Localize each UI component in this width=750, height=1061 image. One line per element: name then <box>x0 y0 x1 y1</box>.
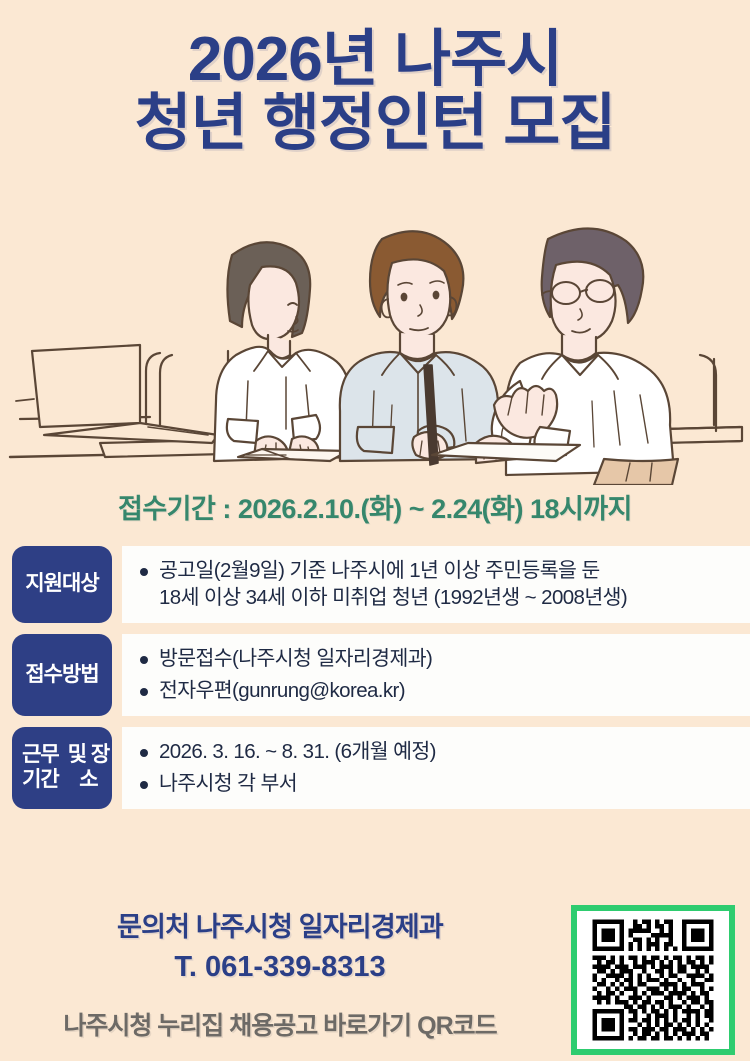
info-label-line-2: 및 장소 <box>67 743 110 792</box>
bullet-dot-icon <box>140 781 148 789</box>
info-panel-application-method: 방문접수(나주시청 일자리경제과) 전자우편(gunrung@korea.kr) <box>122 634 750 716</box>
qr-code[interactable] <box>571 905 735 1055</box>
info-panel-work-period-location: 2026. 3. 16. ~ 8. 31. (6개월 예정) 나주시청 각 부서 <box>122 727 750 809</box>
bullet-text: 공고일(2월9일) 기준 나주시에 1년 이상 주민등록을 둔 18세 이상 3… <box>159 557 736 612</box>
title-line-2: 청년 행정인턴 모집 <box>0 92 750 156</box>
info-row-application-method: 접수방법 방문접수(나주시청 일자리경제과) 전자우편(gunrung@kore… <box>12 634 750 716</box>
info-row-eligibility: 지원대상 공고일(2월9일) 기준 나주시에 1년 이상 주민등록을 둔 18세… <box>12 546 750 623</box>
bullet-item: 방문접수(나주시청 일자리경제과) <box>140 645 736 672</box>
info-label-eligibility: 지원대상 <box>12 546 112 623</box>
bullet-item: 나주시청 각 부서 <box>140 770 736 797</box>
info-panel-eligibility: 공고일(2월9일) 기준 나주시에 1년 이상 주민등록을 둔 18세 이상 3… <box>122 546 750 623</box>
contact-telephone: T. 061-339-8313 <box>20 951 540 984</box>
bullet-dot-icon <box>140 749 148 757</box>
meeting-illustration <box>0 205 750 485</box>
bullet-text: 방문접수(나주시청 일자리경제과) <box>159 645 736 672</box>
bullet-dot-icon <box>140 688 148 696</box>
qr-caption: 나주시청 누리집 채용공고 바로가기 QR코드 <box>20 1006 540 1042</box>
info-label-line-1: 근무기간 <box>14 743 67 792</box>
bullet-line-1: 공고일(2월9일) 기준 나주시에 1년 이상 주민등록을 둔 <box>159 557 736 584</box>
bullet-text: 나주시청 각 부서 <box>159 770 736 797</box>
info-label-application-method: 접수방법 <box>12 634 112 716</box>
qr-code-image <box>581 915 725 1045</box>
title-line-1: 2026년 나주시 <box>0 28 750 92</box>
bullet-item: 공고일(2월9일) 기준 나주시에 1년 이상 주민등록을 둔 18세 이상 3… <box>140 557 736 612</box>
contact-block: 문의처 나주시청 일자리경제과 T. 061-339-8313 <box>20 905 540 984</box>
bullet-dot-icon <box>140 568 148 576</box>
info-row-work-period-location: 근무기간 및 장소 2026. 3. 16. ~ 8. 31. (6개월 예정)… <box>12 727 750 809</box>
contact-organization: 문의처 나주시청 일자리경제과 <box>20 905 540 944</box>
bullet-dot-icon <box>140 656 148 664</box>
info-label-work-period-location: 근무기간 및 장소 <box>12 727 112 809</box>
bullet-item: 2026. 3. 16. ~ 8. 31. (6개월 예정) <box>140 738 736 765</box>
reception-period-line: 접수기간 : 2026.2.10.(화) ~ 2.24(화) 18시까지 <box>0 487 750 526</box>
bullet-text: 2026. 3. 16. ~ 8. 31. (6개월 예정) <box>159 738 736 765</box>
bullet-item: 전자우편(gunrung@korea.kr) <box>140 677 736 704</box>
poster-root: 2026년 나주시 청년 행정인턴 모집 <box>0 0 750 1061</box>
info-rows: 지원대상 공고일(2월9일) 기준 나주시에 1년 이상 주민등록을 둔 18세… <box>12 546 750 820</box>
poster-title: 2026년 나주시 청년 행정인턴 모집 <box>0 28 750 156</box>
bullet-text: 전자우편(gunrung@korea.kr) <box>159 677 736 704</box>
bullet-line-2: 18세 이상 34세 이하 미취업 청년 (1992년생 ~ 2008년생) <box>159 584 736 611</box>
